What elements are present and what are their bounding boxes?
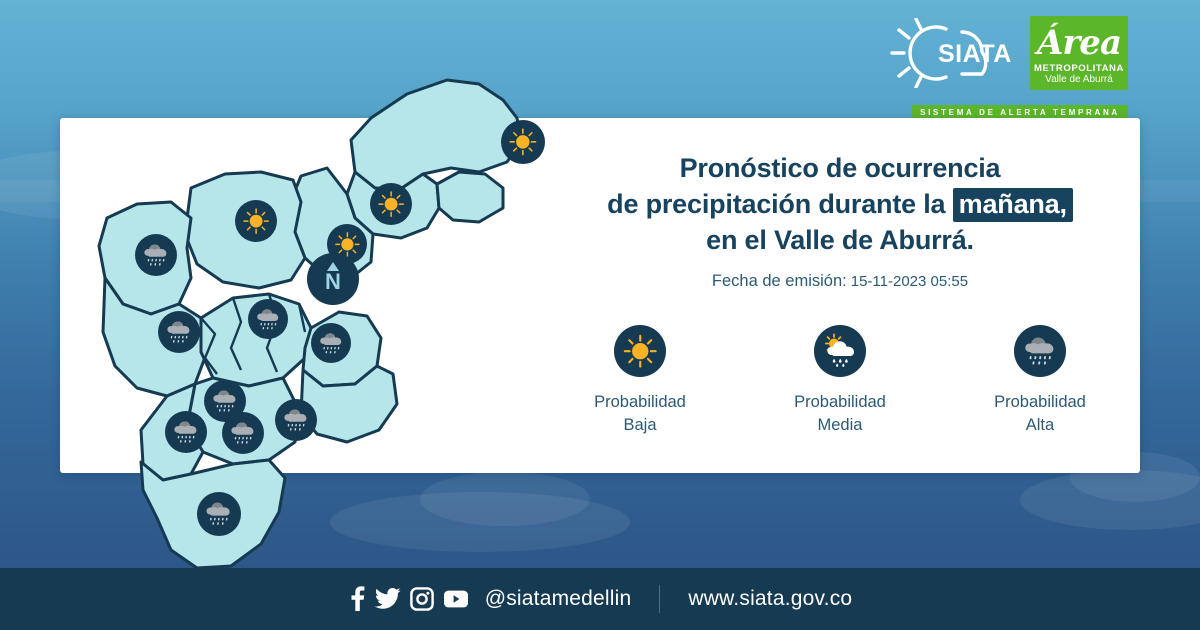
rain-cloud-icon: [171, 417, 201, 447]
map-shapes: [55, 22, 525, 572]
social-links: [348, 586, 469, 612]
aburra-valley-map: N: [55, 22, 525, 572]
legend-item-baja: Probabilidad Baja: [540, 325, 740, 437]
legend-icon-wrapper: [814, 325, 866, 377]
probability-legend: Probabilidad Baja: [540, 325, 1140, 437]
header-logos: SIATA Área METROPOLITANA Valle de Aburrá…: [888, 14, 1128, 114]
map-marker-medellin-north[interactable]: [248, 299, 288, 339]
map-marker-bello[interactable]: [235, 200, 277, 242]
issue-date-value: 15-11-2023 05:55: [851, 273, 968, 290]
legend-item-alta: Probabilidad Alta: [940, 325, 1140, 437]
legend-icon-wrapper: [614, 325, 666, 377]
legend-label: Probabilidad Media: [794, 391, 886, 437]
map-marker-sabaneta[interactable]: [222, 412, 264, 454]
map-marker-la-estrella[interactable]: [165, 411, 207, 453]
rain-cloud-icon: [1021, 332, 1059, 370]
social-handle[interactable]: @siatamedellin: [485, 587, 632, 611]
title-line-2: de precipitación durante la mañana,: [540, 186, 1140, 222]
sun-rain-cloud-icon: [821, 332, 859, 370]
issue-date: Fecha de emisión:15-11-2023 05:55: [540, 272, 1140, 291]
sun-icon: [621, 332, 659, 370]
title-highlight: mañana,: [953, 188, 1073, 222]
legend-label: Probabilidad Alta: [994, 391, 1086, 437]
twitter-icon[interactable]: [375, 587, 401, 611]
sun-icon: [241, 206, 271, 236]
footer-bar: @siatamedellin www.siata.gov.co: [0, 568, 1200, 630]
siata-logo: SIATA: [888, 18, 1018, 88]
title-line-3: en el Valle de Aburrá.: [540, 222, 1140, 258]
page-title: Pronóstico de ocurrencia de precipitació…: [540, 150, 1140, 258]
rain-cloud-icon: [254, 305, 283, 334]
compass-north-icon: N: [307, 253, 359, 305]
map-marker-medellin-nw[interactable]: [158, 311, 200, 353]
compass-label: N: [325, 271, 341, 293]
title-line-1: Pronóstico de ocurrencia: [540, 150, 1140, 186]
legend-item-media: Probabilidad Media: [740, 325, 940, 437]
website-url[interactable]: www.siata.gov.co: [688, 587, 852, 611]
map-marker-barbosa[interactable]: [501, 120, 545, 164]
sun-icon: [507, 126, 539, 158]
area-metropolitana-logo: Área METROPOLITANA Valle de Aburrá: [1030, 16, 1128, 90]
map-marker-envigado[interactable]: [275, 399, 317, 441]
legend-label: Probabilidad Baja: [594, 391, 686, 437]
svg-text:SIATA: SIATA: [938, 40, 1012, 68]
sun-icon: [376, 189, 406, 219]
youtube-icon[interactable]: [443, 589, 469, 609]
municipality-barbosa: [351, 80, 521, 190]
rain-cloud-icon: [141, 240, 171, 270]
compass-arrow-icon: [327, 262, 339, 271]
municipality-ridge: [437, 172, 503, 222]
map-marker-northwest[interactable]: [135, 234, 177, 276]
map-marker-caldas[interactable]: [197, 492, 241, 536]
rain-cloud-icon: [164, 317, 194, 347]
legend-icon-wrapper: [1014, 325, 1066, 377]
area-logo-line2: Valle de Aburrá: [1045, 74, 1113, 86]
area-logo-script: Área: [1030, 20, 1128, 66]
rain-cloud-icon: [317, 329, 346, 358]
issue-date-label: Fecha de emisión:: [712, 272, 847, 290]
map-marker-girardota[interactable]: [370, 183, 412, 225]
forecast-panel: Pronóstico de ocurrencia de precipitació…: [540, 150, 1140, 291]
infographic-root: SIATA Área METROPOLITANA Valle de Aburrá…: [0, 0, 1200, 630]
rain-cloud-icon: [281, 405, 311, 435]
rain-cloud-icon: [203, 498, 235, 530]
map-marker-medellin-east[interactable]: [311, 323, 351, 363]
title-line-2-pre: de precipitación durante la: [607, 189, 952, 219]
footer-divider: [659, 585, 660, 613]
instagram-icon[interactable]: [410, 587, 434, 611]
facebook-icon[interactable]: [348, 586, 366, 612]
sun-cloud-icon: SIATA: [888, 18, 1018, 88]
rain-cloud-icon: [228, 418, 258, 448]
